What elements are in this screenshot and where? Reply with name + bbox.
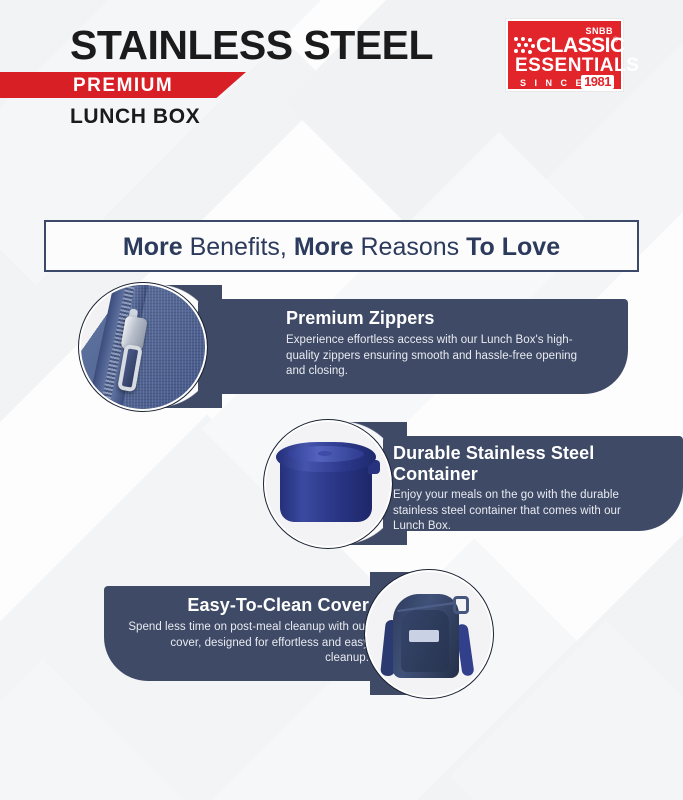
premium-label: PREMIUM [73, 75, 173, 97]
benefit-title: Easy-To-Clean Cover [124, 595, 369, 616]
page-subtitle: LUNCH BOX [70, 105, 200, 129]
benefit-image-zipper [81, 285, 205, 409]
logo-year-badge: 1981 [581, 75, 614, 89]
premium-ribbon: PREMIUM [0, 72, 246, 98]
brand-logo: SNBB CLASSIC ® ESSENTIALS S I N C E 1981 [506, 19, 623, 91]
benefit-body: Experience effortless access with our Lu… [286, 333, 586, 380]
stainless-steel-container-photo [266, 422, 390, 546]
benefit-card-zippers: Premium Zippers Experience effortless ac… [78, 285, 558, 409]
header: STAINLESS STEEL PREMIUM LUNCH BOX SNBB C… [0, 0, 683, 150]
benefit-image-container [266, 422, 390, 546]
section-heading-banner: More Benefits, More Reasons To Love [44, 220, 639, 272]
benefit-panel: Premium Zippers Experience effortless ac… [198, 299, 628, 394]
heading-part-3: More [294, 233, 361, 261]
benefit-panel: Durable Stainless Steel Container Enjoy … [383, 436, 683, 531]
heading-part-5: To Love [466, 233, 560, 261]
heading-part-4: Reasons [361, 233, 467, 261]
registered-trademark-icon: ® [613, 37, 618, 44]
benefit-title: Premium Zippers [286, 308, 616, 329]
heading-part-2: Benefits, [190, 233, 294, 261]
page-title: STAINLESS STEEL [70, 25, 433, 66]
logo-since-row: S I N C E 1981 [520, 76, 614, 90]
heading-part-1: More [123, 233, 190, 261]
benefit-title: Durable Stainless Steel Container [393, 443, 633, 485]
benefit-card-container: Durable Stainless Steel Container Enjoy … [263, 422, 643, 546]
benefit-body: Spend less time on post-meal cleanup wit… [124, 620, 369, 667]
zipper-closeup-photo [81, 285, 205, 409]
section-heading-text: More Benefits, More Reasons To Love [46, 233, 637, 262]
lunch-bag-cover-photo [367, 572, 491, 696]
benefit-body: Enjoy your meals on the go with the dura… [393, 488, 623, 535]
benefit-image-cover [367, 572, 491, 696]
logo-underline [520, 90, 580, 91]
logo-essentials-text: ESSENTIALS [515, 55, 639, 77]
benefit-card-cover: Easy-To-Clean Cover Spend less time on p… [104, 572, 494, 696]
logo-since-text: S I N C E [520, 78, 585, 88]
benefit-panel: Easy-To-Clean Cover Spend less time on p… [104, 586, 394, 681]
logo-dots-icon [514, 37, 536, 55]
